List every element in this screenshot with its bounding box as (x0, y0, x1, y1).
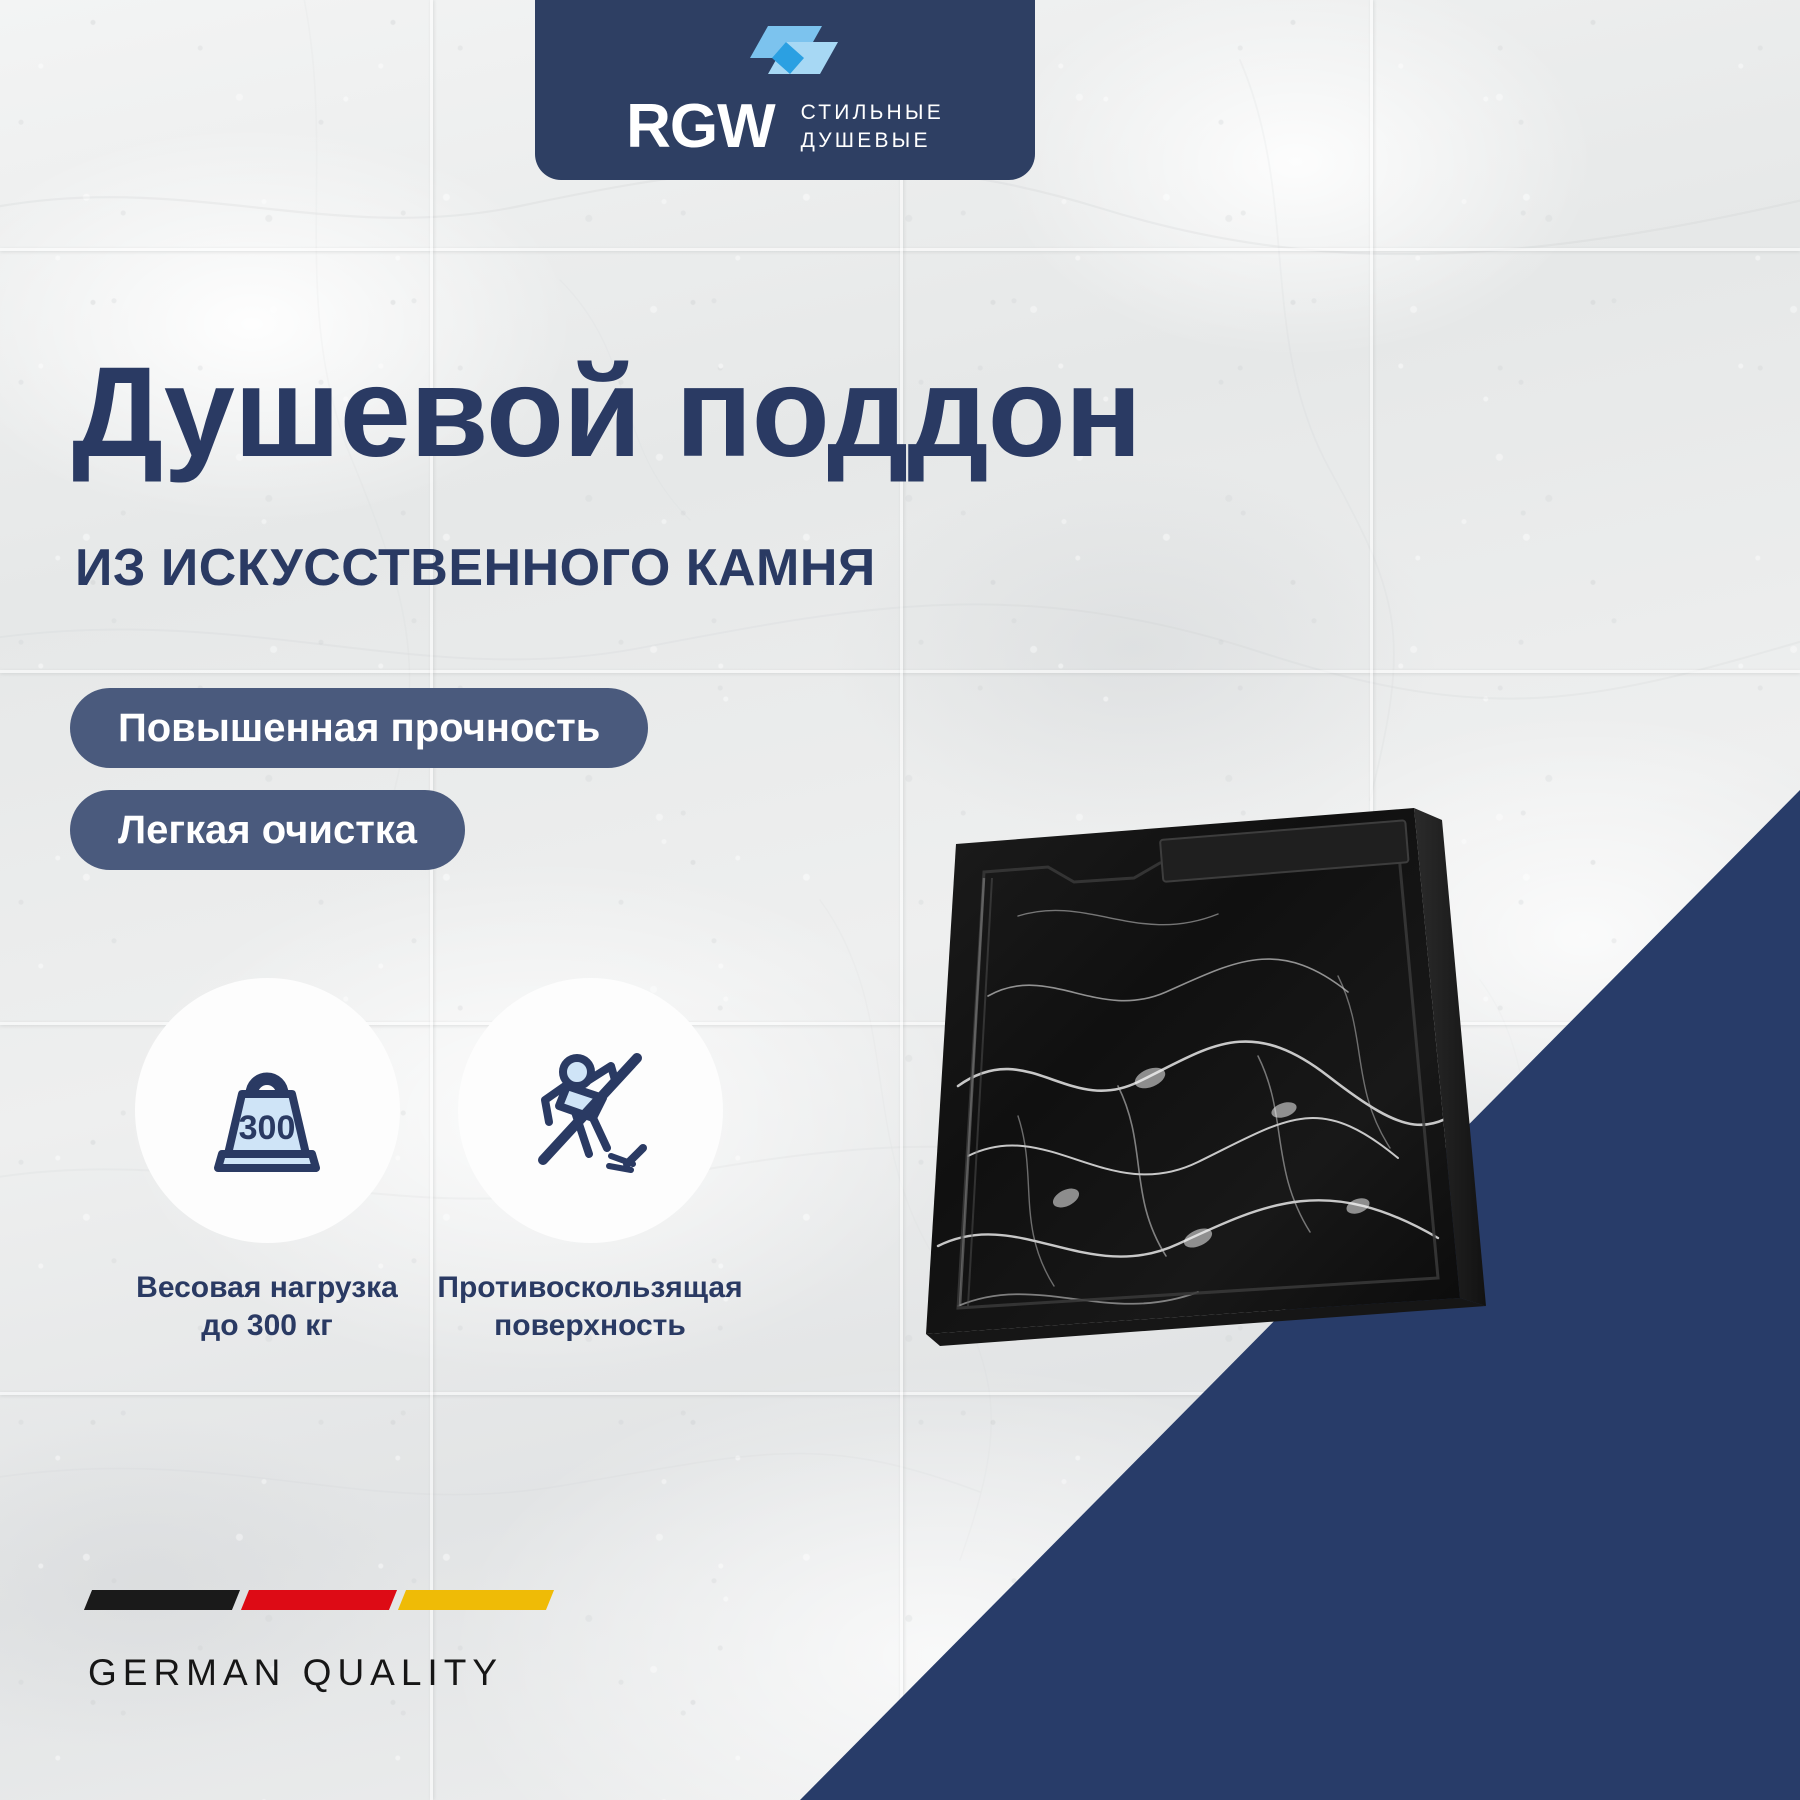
brand-tagline-line-1: СТИЛЬНЫЕ (801, 99, 944, 127)
feature-caption: Весовая нагрузка до 300 кг (136, 1269, 398, 1344)
feature-caption: Противоскользящая поверхность (437, 1269, 742, 1344)
flag-stripe-red (241, 1590, 397, 1610)
feature-icon-circle (458, 978, 723, 1243)
flag-stripe-black (84, 1590, 240, 1610)
brand-banner: RGW СТИЛЬНЫЕ ДУШЕВЫЕ (535, 0, 1035, 180)
weight-300-icon: 300 (192, 1036, 342, 1186)
brand-tagline-line-2: ДУШЕВЫЕ (801, 127, 944, 155)
feature-weight-load: 300 Весовая нагрузка до 300 кг (117, 978, 417, 1344)
rgw-logo-mark-icon (742, 24, 838, 86)
product-shower-tray (898, 786, 1518, 1376)
german-flag-stripes (88, 1590, 550, 1610)
anti-slip-icon (515, 1036, 665, 1186)
tile-grout-line (430, 0, 433, 1800)
flag-stripe-gold (398, 1590, 554, 1610)
brand-wordmark: RGW (626, 96, 775, 158)
german-quality-label: GERMAN QUALITY (88, 1652, 550, 1694)
weight-value-label: 300 (239, 1109, 296, 1147)
promo-canvas: RGW СТИЛЬНЫЕ ДУШЕВЫЕ Душевой поддон ИЗ И… (0, 0, 1800, 1800)
feature-pill-strength: Повышенная прочность (70, 688, 648, 768)
feature-icon-circle: 300 (135, 978, 400, 1243)
feature-pill-cleaning: Легкая очистка (70, 790, 465, 870)
page-title: Душевой поддон (72, 348, 1402, 479)
tray-top-surface (926, 808, 1460, 1334)
brand-tagline: СТИЛЬНЫЕ ДУШЕВЫЕ (801, 99, 944, 156)
german-quality-badge: GERMAN QUALITY (88, 1590, 550, 1694)
page-subtitle: ИЗ ИСКУССТВЕННОГО КАМНЯ (75, 538, 876, 598)
feature-anti-slip: Противоскользящая поверхность (440, 978, 740, 1344)
